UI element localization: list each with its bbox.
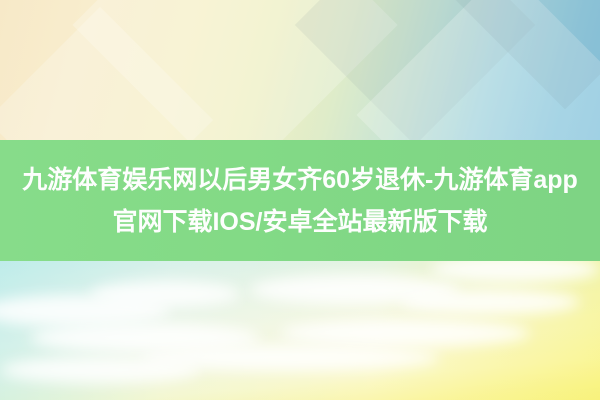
top-gradient-decoration [0,0,600,141]
cloud-shape-9 [0,357,200,383]
cloud-shape-4 [400,289,580,315]
cloud-shape-2 [90,281,240,307]
bottom-sky-decoration [0,261,600,400]
cloud-shape-6 [280,319,530,347]
banner-title: 九游体育娱乐网以后男女齐60岁退休-九游体育app官网下载IOS/安卓全站最新版… [10,159,590,243]
banner-title-text: 九游体育娱乐网以后男女齐60岁退休-九游体育app官网下载IOS/安卓全站最新版… [22,166,578,236]
title-band: 九游体育娱乐网以后男女齐60岁退休-九游体育app官网下载IOS/安卓全站最新版… [0,140,600,262]
decorative-article-banner: 九游体育娱乐网以后男女齐60岁退休-九游体育app官网下载IOS/安卓全站最新版… [0,0,600,400]
